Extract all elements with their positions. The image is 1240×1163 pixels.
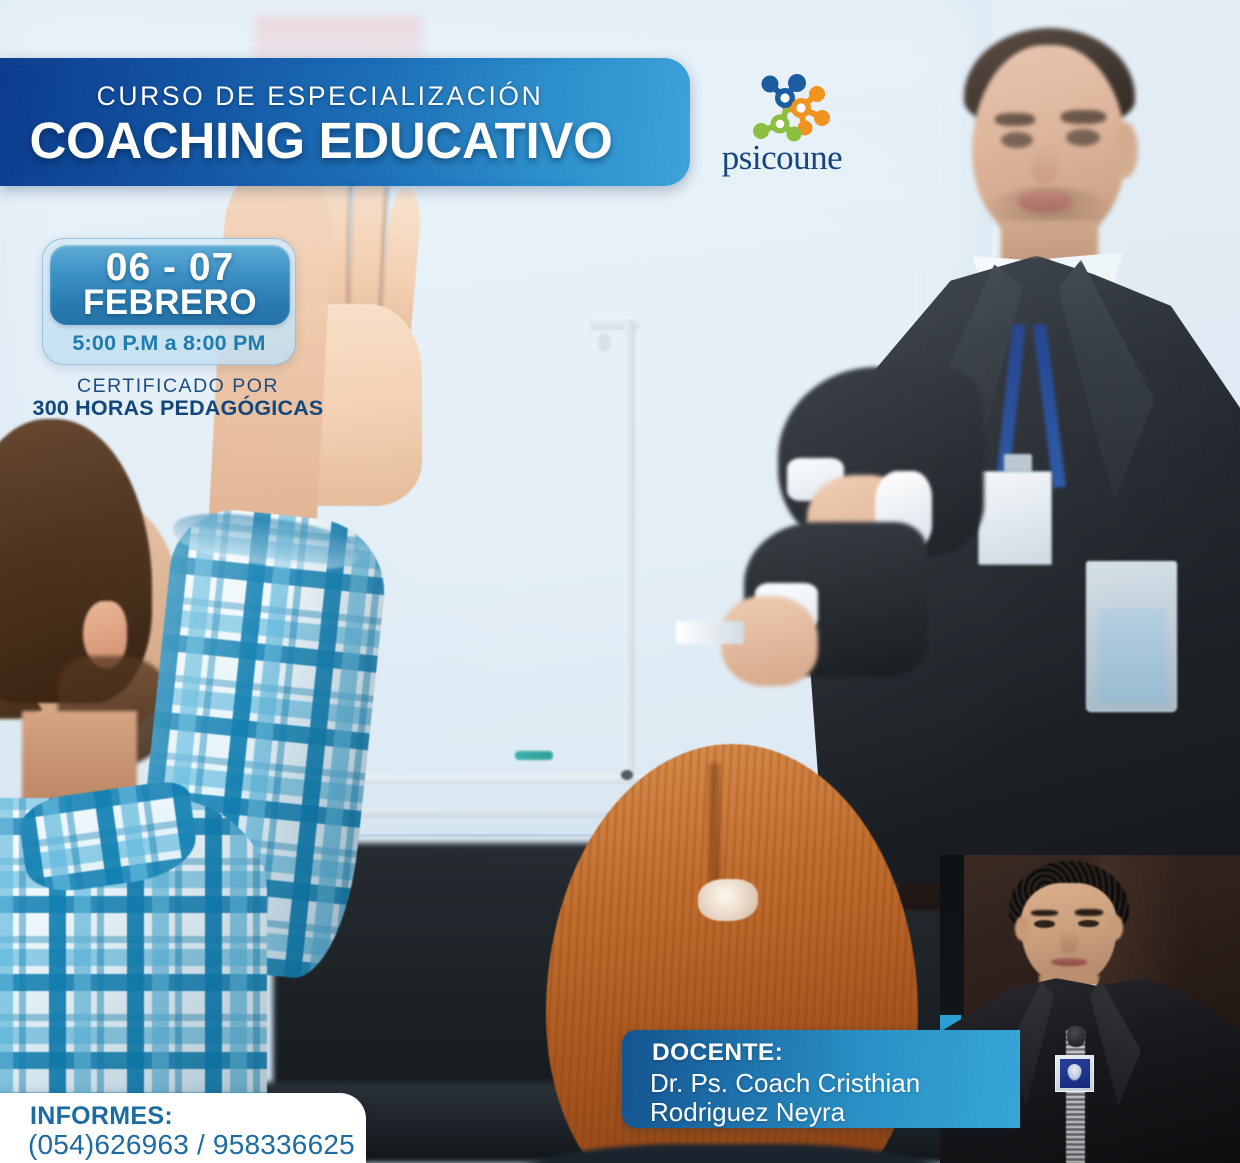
docente-name: Dr. Ps. Coach Cristhian Rodriguez Neyra [650,1069,920,1127]
molecule-icon [740,72,844,144]
header-banner: CURSO DE ESPECIALIZACIÓN COACHING EDUCAT… [0,58,690,186]
instructor-nose [1060,930,1078,953]
presenter-nose [1032,147,1058,183]
docente-name-line-1: Dr. Ps. Coach Cristhian [650,1068,920,1098]
instructor-ear-right [1108,915,1123,940]
presenter-eyebrow-right [1061,110,1107,124]
microphone-flag-logo-icon [1067,1064,1082,1081]
presenter-marker [676,621,744,643]
attendee-hair-tie [698,879,758,921]
presenter-mouth [1018,191,1072,212]
docente-banner: DOCENTE: Dr. Ps. Coach Cristhian Rodrigu… [622,1030,1020,1128]
docente-name-line-2: Rodriguez Neyra [650,1097,845,1127]
date-chip: 06 - 07 FEBRERO [50,245,290,325]
course-kicker: CURSO DE ESPECIALIZACIÓN [0,81,640,112]
certification-line-2: 300 HORAS PEDAGÓGICAS [30,396,326,421]
date-time-range: 5:00 P.M a 8:00 PM [43,331,295,356]
microphone-shaft [1066,1030,1086,1163]
presenter-eyebrow-left [995,113,1035,126]
date-month: FEBRERO [50,283,290,323]
attendee-hair-part [709,763,720,893]
informes-panel: INFORMES: (054)626963 / 958336625 [0,1093,366,1163]
instructor-eye-right [1078,920,1099,928]
poster-canvas: CURSO DE ESPECIALIZACIÓN COACHING EDUCAT… [0,0,1240,1163]
instructor-eyebrow-left [1031,910,1058,916]
psicoune-logo: psicoune [706,72,858,176]
water-glass-contents [1098,608,1166,703]
presenter-eye-left [1001,132,1033,148]
presenter-ear [1112,122,1138,178]
instructor-eyebrow-right [1075,909,1104,915]
logo-wordmark: psicoune [706,138,858,178]
date-card: 06 - 07 FEBRERO 5:00 P.M a 8:00 PM [42,238,296,365]
instructor-ear-left [1015,916,1030,941]
instructor-eye-left [1034,920,1055,927]
attendee-shoulders [471,1144,992,1163]
informes-phone-numbers[interactable]: (054)626963 / 958336625 [28,1129,355,1161]
header-banner-inner: CURSO DE ESPECIALIZACIÓN COACHING EDUCAT… [0,65,676,179]
docente-label: DOCENTE: [652,1039,783,1067]
microphone-head [1067,1026,1085,1048]
presenter-id-badge [978,471,1052,566]
instructor-mouth [1051,958,1087,966]
instructor-left-dark-edge [940,855,964,1015]
informes-label: INFORMES: [30,1102,173,1131]
certification-line-1: CERTIFICADO POR [42,375,314,398]
course-title: COACHING EDUCATIVO [0,111,642,170]
